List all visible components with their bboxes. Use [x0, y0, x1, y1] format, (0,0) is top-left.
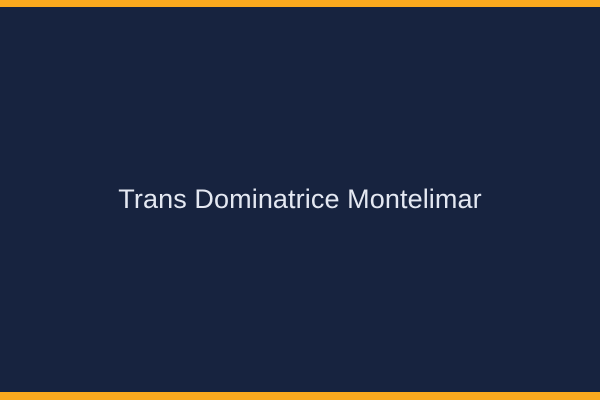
banner-title: Trans Dominatrice Montelimar: [118, 184, 481, 215]
banner-content: Trans Dominatrice Montelimar: [0, 0, 600, 400]
placeholder-banner: Trans Dominatrice Montelimar: [0, 0, 600, 400]
bottom-accent-bar: [0, 392, 600, 400]
